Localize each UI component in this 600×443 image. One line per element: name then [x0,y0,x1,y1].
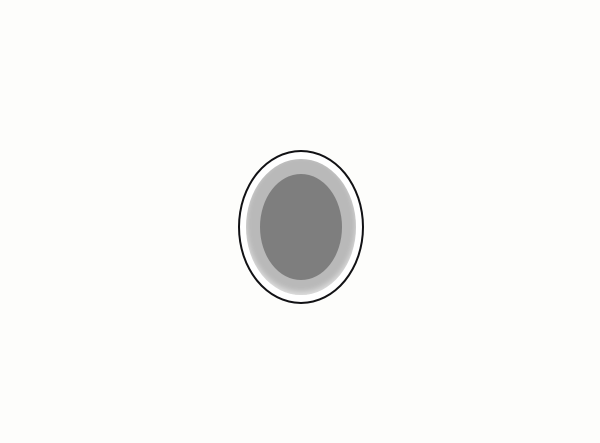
infographic-canvas [0,0,600,443]
connector-dots [0,0,600,443]
